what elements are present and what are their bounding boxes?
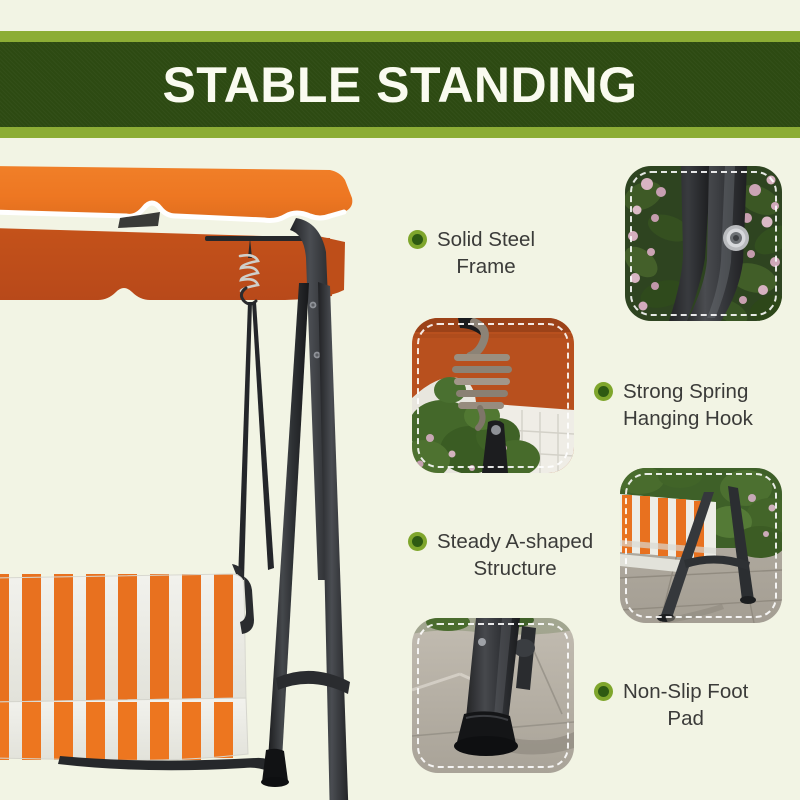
swing-hanger-rod-left xyxy=(238,302,252,580)
metal-bolt xyxy=(723,225,749,251)
leg-foot-right xyxy=(740,596,756,604)
feature-line-1: Strong Spring xyxy=(623,380,748,403)
bullet-icon xyxy=(408,230,427,249)
bullet-icon xyxy=(594,682,613,701)
infographic-page: STABLE STANDING xyxy=(0,0,800,800)
photo-foot-pad xyxy=(412,618,574,773)
feature-line-2: Hanging Hook xyxy=(623,407,753,430)
feature-text: Solid Steel Frame xyxy=(437,226,535,280)
canopy-shadow-band xyxy=(412,318,574,332)
photo-spring-hook xyxy=(412,318,574,473)
feature-label-solid-steel-frame: Solid Steel Frame xyxy=(408,226,608,280)
feature-line-2: Structure xyxy=(473,557,556,580)
feature-text: Steady A-shaped Structure xyxy=(437,528,593,582)
swing-hanger-rod-right xyxy=(252,302,274,570)
feature-label-non-slip-foot-pad: Non-Slip Foot Pad xyxy=(594,678,800,732)
feature-line-1: Steady A-shaped xyxy=(437,530,593,553)
header-banner: STABLE STANDING xyxy=(0,31,800,138)
page-title: STABLE STANDING xyxy=(162,60,637,110)
leg-bolt xyxy=(478,638,486,646)
frame-rivet xyxy=(311,303,314,306)
seat-back-cushion xyxy=(0,574,246,702)
photo-a-frame-legs xyxy=(620,468,782,623)
product-swing-image xyxy=(0,150,400,800)
foot-pad-left-base xyxy=(261,777,289,787)
header-banner-inner: STABLE STANDING xyxy=(0,42,800,127)
feature-line-1: Non-Slip Foot xyxy=(623,680,748,703)
photo-steel-tube-bolt xyxy=(625,166,782,321)
rubber-foot-pad xyxy=(454,711,518,756)
feature-text: Strong Spring Hanging Hook xyxy=(623,378,753,432)
frame-rivet xyxy=(315,353,318,356)
seat-base-cushion xyxy=(0,698,248,760)
frame-leg-front-left xyxy=(268,283,309,760)
feature-line-2: Frame xyxy=(456,255,515,278)
feature-label-steady-a-shaped-structure: Steady A-shaped Structure xyxy=(408,528,623,582)
feature-label-strong-spring-hanging-hook: Strong Spring Hanging Hook xyxy=(594,378,799,432)
bullet-icon xyxy=(408,532,427,551)
feature-line-2: Pad xyxy=(667,707,703,730)
feature-line-1: Solid Steel xyxy=(437,228,535,251)
bullet-icon xyxy=(594,382,613,401)
feature-text: Non-Slip Foot Pad xyxy=(623,678,748,732)
post-fitting xyxy=(491,425,501,435)
